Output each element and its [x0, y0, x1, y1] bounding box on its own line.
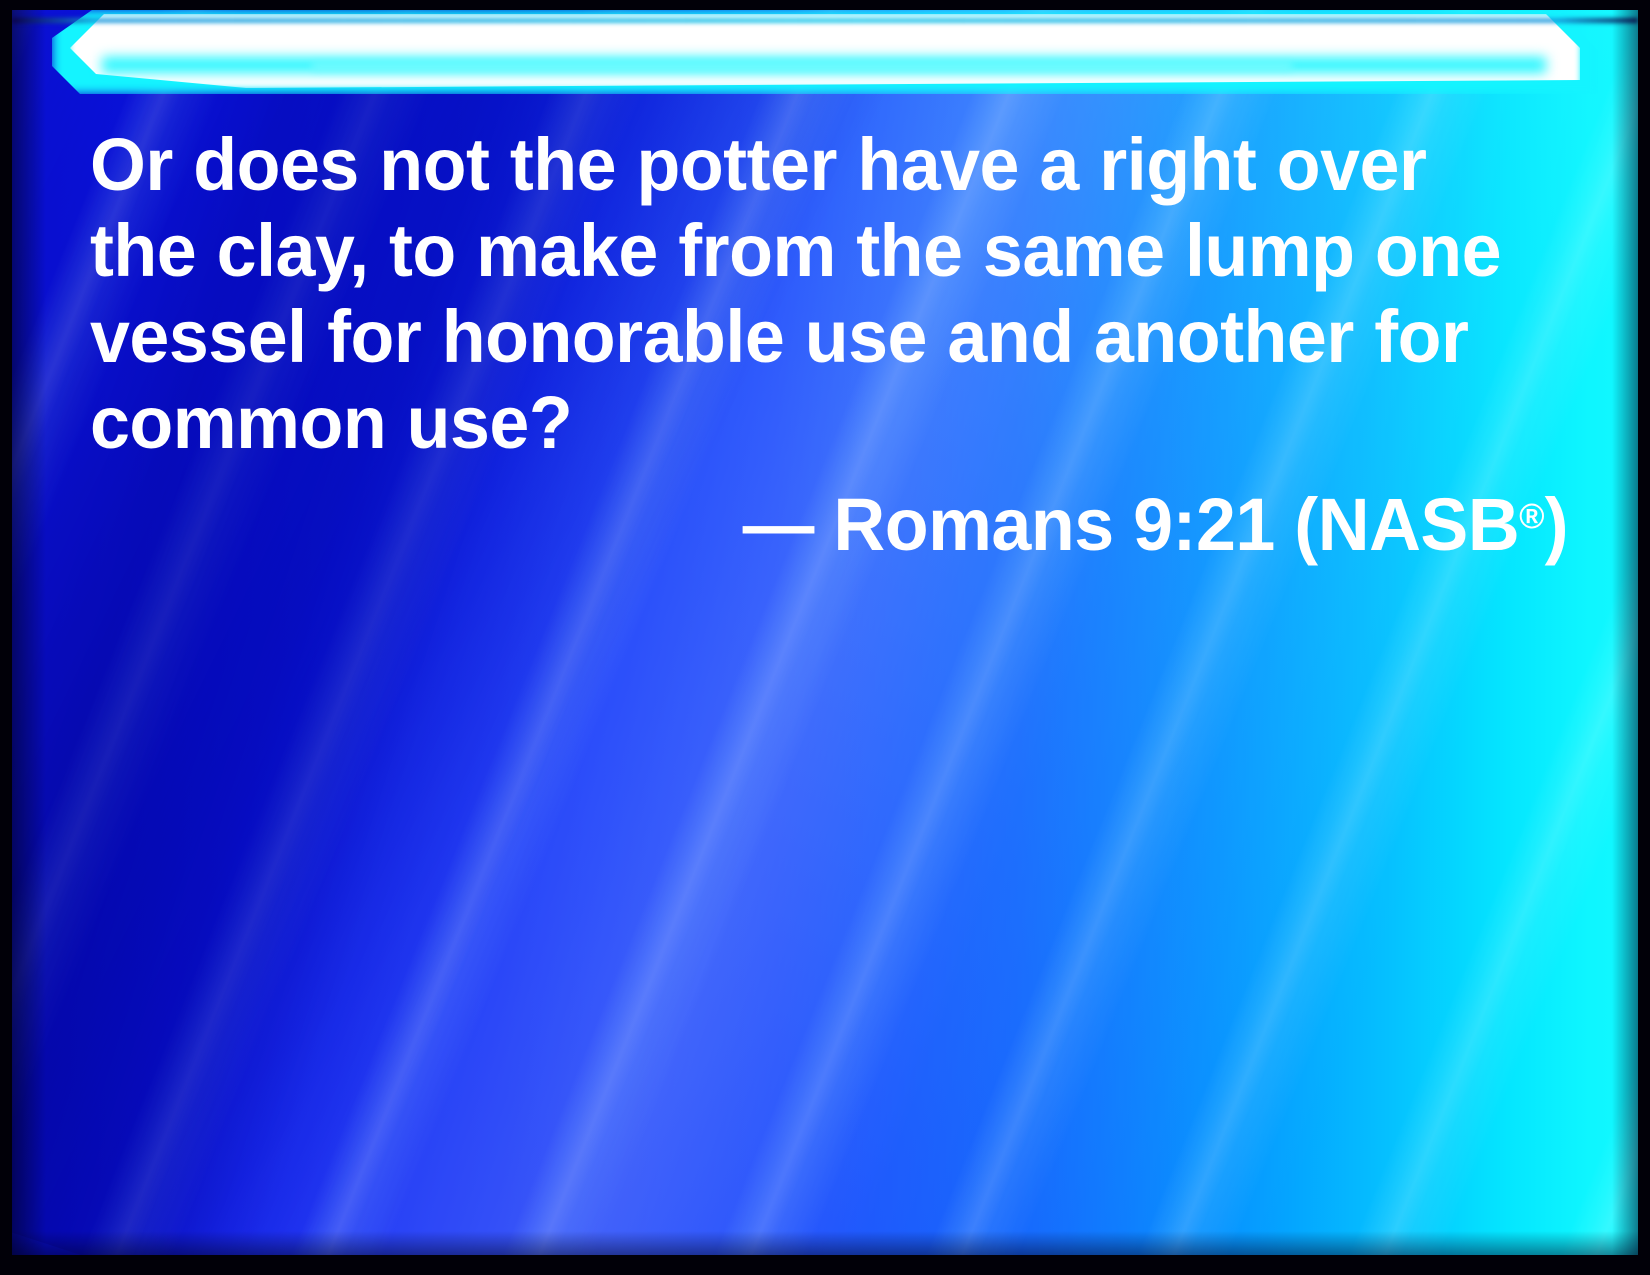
citation-translation: NASB [1318, 483, 1519, 566]
citation-reference: Romans 9:21 [833, 483, 1274, 566]
slide-canvas: Or does not the potter have a right over… [12, 10, 1638, 1255]
slide-frame: Or does not the potter have a right over… [0, 0, 1650, 1275]
verse-body-text: Or does not the potter have a right over… [90, 122, 1524, 466]
citation-dash: — [743, 483, 814, 566]
registered-trademark-icon: ® [1519, 496, 1544, 536]
verse-citation: — Romans 9:21 (NASB®) [134, 466, 1568, 568]
verse-text-block: Or does not the potter have a right over… [90, 122, 1568, 568]
citation-open-paren: ( [1294, 483, 1317, 566]
scripture-slide: Or does not the potter have a right over… [0, 0, 1650, 1275]
citation-close-paren: ) [1545, 483, 1568, 566]
